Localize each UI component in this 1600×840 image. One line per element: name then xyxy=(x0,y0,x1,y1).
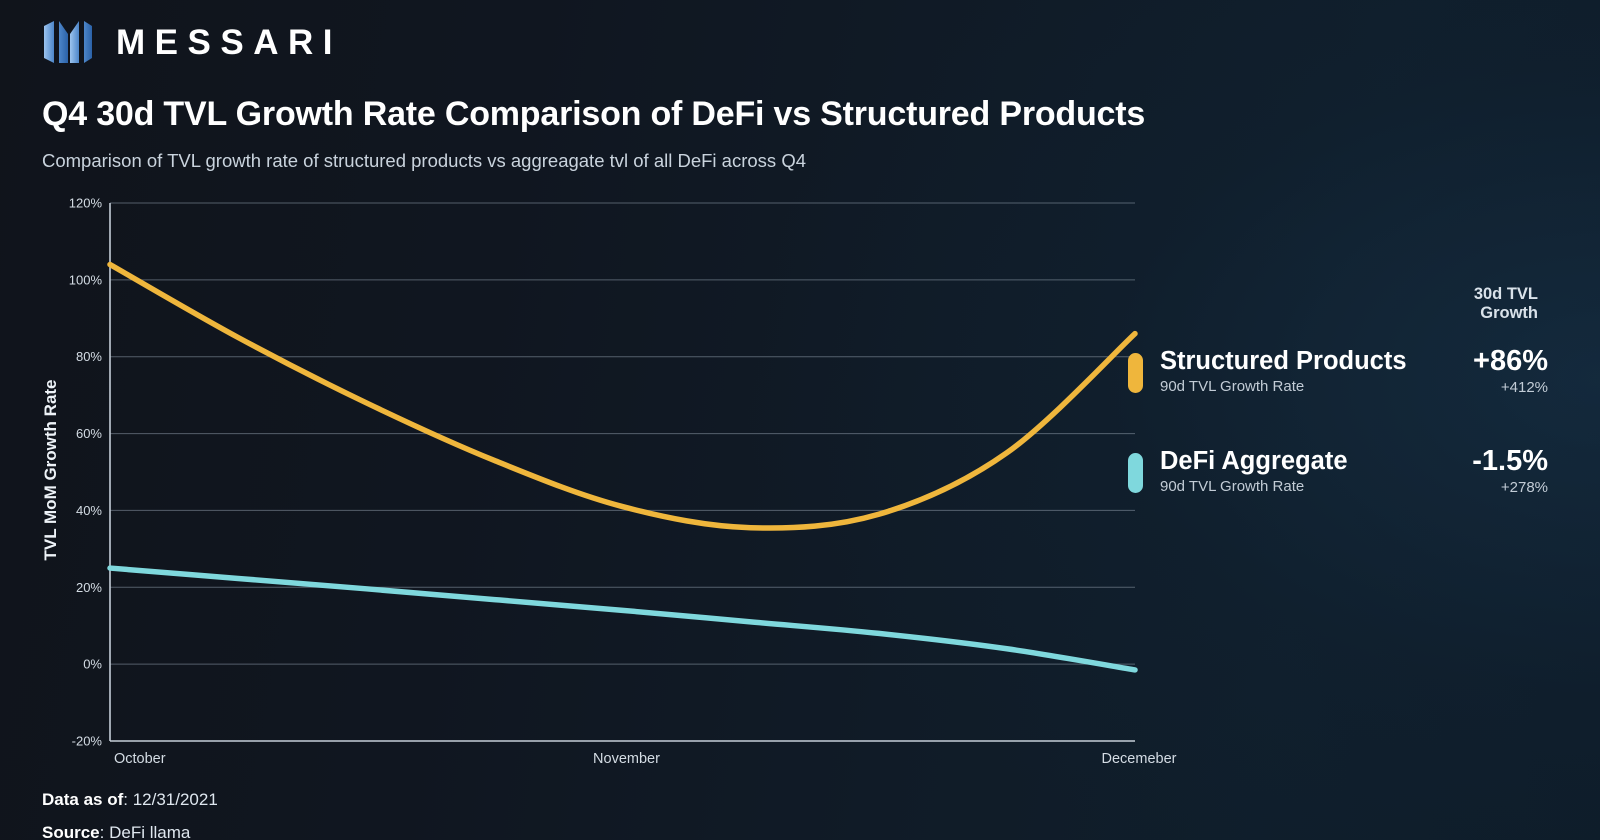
y-tick-label: -20% xyxy=(72,734,103,749)
footer-source: Source: DeFi llama xyxy=(42,816,218,840)
legend-item-name: DeFi Aggregate xyxy=(1160,448,1432,476)
series-line-defi-aggregate xyxy=(110,568,1135,670)
footer-data-as-of-label: Data as of xyxy=(42,790,123,809)
legend-swatch-pill-icon xyxy=(1128,453,1143,493)
y-tick-label: 20% xyxy=(76,580,102,595)
legend-item-sublabel: 90d TVL Growth Rate xyxy=(1160,478,1432,497)
legend-swatch-pill-icon xyxy=(1128,353,1143,393)
x-axis-tick-labels: OctoberNovemberDecemeber xyxy=(114,751,1177,767)
y-tick-label: 100% xyxy=(69,272,103,287)
legend-item-primary-value: -1.5% xyxy=(1432,446,1548,476)
legend-item-sublabel: 90d TVL Growth Rate xyxy=(1160,378,1432,397)
series-line-structured-products xyxy=(110,264,1135,528)
y-tick-label: 120% xyxy=(69,196,103,211)
footer-source-label: Source xyxy=(42,823,100,840)
x-tick-label: Decemeber xyxy=(1102,751,1177,767)
line-chart-svg: -20%0%20%40%60%80%100%120% OctoberNovemb… xyxy=(0,0,1600,840)
legend-item-secondary-value: +412% xyxy=(1432,379,1548,398)
y-tick-label: 80% xyxy=(76,349,102,364)
chart-plot-area: -20%0%20%40%60%80%100%120% OctoberNovemb… xyxy=(0,0,1600,840)
legend-item-defi-aggregate[interactable]: DeFi Aggregate 90d TVL Growth Rate -1.5%… xyxy=(1128,448,1548,510)
x-tick-label: November xyxy=(593,751,660,767)
footer-data-as-of: Data as of: 12/31/2021 xyxy=(42,783,218,816)
chart-footer: Data as of: 12/31/2021 Source: DeFi llam… xyxy=(42,783,218,840)
legend-item-structured-products[interactable]: Structured Products 90d TVL Growth Rate … xyxy=(1128,348,1548,410)
y-axis-tick-labels: -20%0%20%40%60%80%100%120% xyxy=(69,196,103,749)
y-tick-label: 60% xyxy=(76,426,102,441)
y-tick-label: 0% xyxy=(83,657,102,672)
y-tick-label: 40% xyxy=(76,503,102,518)
footer-data-as-of-value: : 12/31/2021 xyxy=(123,790,218,809)
legend-item-secondary-value: +278% xyxy=(1432,479,1548,498)
chart-series-lines xyxy=(110,264,1135,669)
legend-header-label: 30d TVL Growth xyxy=(1474,285,1538,324)
y-axis-title: TVL MoM Growth Rate xyxy=(41,379,60,560)
legend-item-primary-value: +86% xyxy=(1432,346,1548,376)
legend-item-name: Structured Products xyxy=(1160,348,1432,376)
x-tick-label: October xyxy=(114,751,166,767)
footer-source-value: : DeFi llama xyxy=(100,823,191,840)
